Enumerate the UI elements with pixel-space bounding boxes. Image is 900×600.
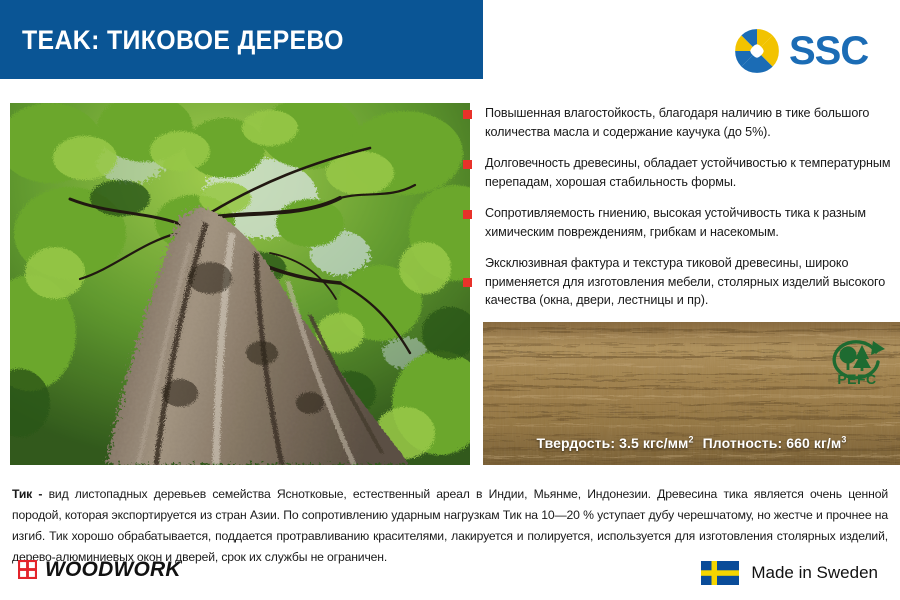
ssc-wordmark: SSC	[789, 31, 868, 71]
window-pane-icon	[18, 560, 37, 579]
feature-bullet-list: Повышенная влагостойкость, благодаря нал…	[461, 104, 893, 323]
density-label: Плотность:	[703, 435, 783, 451]
sweden-flag-icon	[701, 561, 739, 585]
list-item: Эксклюзивная фактура и текстура тиковой …	[461, 254, 893, 310]
list-item: Повышенная влагостойкость, благодаря нал…	[461, 104, 893, 141]
made-in-sweden-label: Made in Sweden	[751, 564, 878, 582]
ssc-logo: SSC	[731, 25, 886, 77]
svg-text:PEFC: PEFC	[837, 371, 876, 387]
list-item: Сопротивляемость гниению, высокая устойч…	[461, 204, 893, 241]
density-value: 660 кг/м	[786, 435, 841, 451]
description-lead: Тик -	[12, 487, 49, 501]
list-item-label: Эксклюзивная фактура и текстура тиковой …	[485, 256, 885, 307]
list-item-label: Сопротивляемость гниению, высокая устойч…	[485, 206, 866, 239]
made-in-sweden: Made in Sweden	[701, 561, 878, 585]
list-item-label: Повышенная влагостойкость, благодаря нал…	[485, 106, 869, 139]
hardness-value: 3.5 кгс/мм	[619, 435, 688, 451]
wood-specs: Твердость: 3.5 кгс/мм2Плотность: 660 кг/…	[483, 435, 900, 451]
hardness-label: Твердость:	[537, 435, 616, 451]
bullet-square-icon	[463, 160, 472, 169]
bullet-square-icon	[463, 110, 472, 119]
pefc-logo: PEFC	[826, 336, 888, 391]
ssc-aperture-icon	[731, 25, 783, 77]
woodwork-wordmark: WOODWORK	[45, 559, 181, 580]
list-item: Долговечность древесины, обладает устойч…	[461, 154, 893, 191]
hardness-exponent: 2	[689, 434, 694, 444]
bullet-square-icon	[463, 278, 472, 287]
density-exponent: 3	[841, 434, 846, 444]
footer: WOODWORK Made in Sweden	[0, 552, 900, 600]
teak-tree-photo	[10, 103, 470, 465]
woodwork-logo: WOODWORK	[18, 559, 181, 580]
teak-wood-texture: PEFC Твердость: 3.5 кгс/мм2Плотность: 66…	[483, 322, 900, 465]
bullet-square-icon	[463, 210, 472, 219]
tree-photo-illustration	[10, 103, 470, 465]
list-item-label: Долговечность древесины, обладает устойч…	[485, 156, 890, 189]
page-title: TEAK: ТИКОВОЕ ДЕРЕВО	[22, 25, 344, 55]
